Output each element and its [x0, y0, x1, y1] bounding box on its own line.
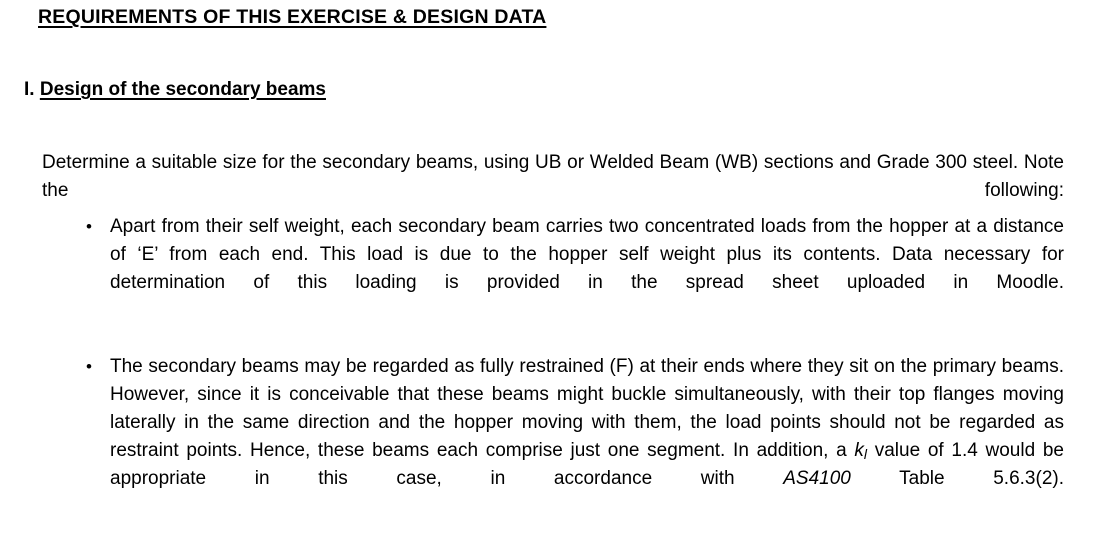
- list-item-text: Apart from their self weight, each secon…: [110, 213, 1064, 325]
- bullet-icon: •: [86, 213, 104, 241]
- section-heading: I. Design of the secondary beams: [24, 79, 326, 101]
- list-item-text: The secondary beams may be regarded as f…: [110, 353, 1064, 521]
- document-page: REQUIREMENTS OF THIS EXERCISE & DESIGN D…: [0, 0, 1095, 540]
- standard-reference: AS4100: [783, 468, 851, 489]
- bullet-icon: •: [86, 353, 104, 381]
- factor-symbol-subscript: l: [864, 446, 867, 462]
- document-title-text: REQUIREMENTS OF THIS EXERCISE & DESIGN D…: [38, 6, 546, 28]
- section-numeral: I.: [24, 79, 35, 100]
- section-heading-text: Design of the secondary beams: [40, 79, 326, 100]
- factor-symbol-k: k: [854, 440, 864, 461]
- list-item: • Apart from their self weight, each sec…: [86, 213, 1064, 325]
- document-title: REQUIREMENTS OF THIS EXERCISE & DESIGN D…: [38, 6, 546, 29]
- list-item-text-segment-3: Table 5.6.3(2).: [851, 468, 1064, 489]
- requirements-bullet-list: • Apart from their self weight, each sec…: [86, 213, 1064, 521]
- list-item: • The secondary beams may be regarded as…: [86, 353, 1064, 521]
